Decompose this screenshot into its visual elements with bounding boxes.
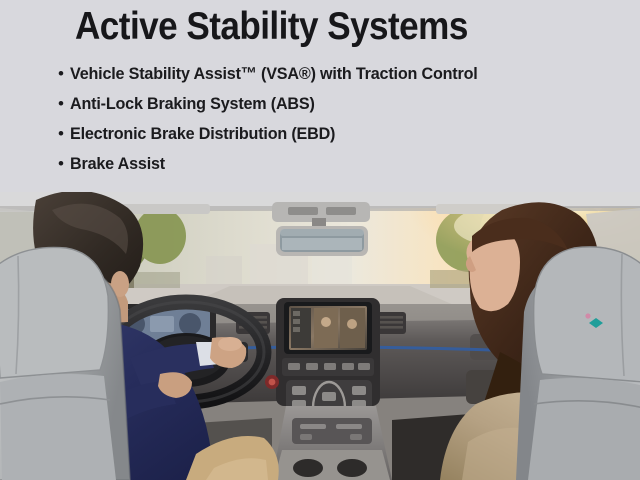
slide-text-area: Active Stability Systems • Vehicle Stabi… bbox=[0, 0, 640, 192]
bullet-point-icon: • bbox=[58, 65, 70, 82]
interior-illustration bbox=[0, 192, 640, 480]
center-console bbox=[272, 406, 392, 480]
list-item: • Vehicle Stability Assist™ (VSA®) with … bbox=[58, 58, 638, 88]
bullet-point-icon: • bbox=[58, 125, 70, 142]
bullet-point-icon: • bbox=[58, 95, 70, 112]
list-item: • Anti-Lock Braking System (ABS) bbox=[58, 88, 638, 118]
bullet-label-brake-assist: Brake Assist bbox=[70, 154, 165, 173]
bullet-label-ebd: Electronic Brake Distribution (EBD) bbox=[70, 124, 335, 143]
presentation-slide: Active Stability Systems • Vehicle Stabi… bbox=[0, 0, 640, 480]
feature-bullet-list: • Vehicle Stability Assist™ (VSA®) with … bbox=[58, 58, 638, 178]
minivan-interior-photo bbox=[0, 192, 640, 480]
bullet-label-vsa: Vehicle Stability Assist™ (VSA®) with Tr… bbox=[70, 64, 478, 83]
infotainment-touchscreen[interactable] bbox=[284, 302, 372, 354]
list-item: • Electronic Brake Distribution (EBD) bbox=[58, 118, 638, 148]
list-item: • Brake Assist bbox=[58, 148, 638, 178]
page-title: Active Stability Systems bbox=[75, 4, 468, 50]
bullet-point-icon: • bbox=[58, 155, 70, 172]
bullet-label-abs: Anti-Lock Braking System (ABS) bbox=[70, 94, 315, 113]
